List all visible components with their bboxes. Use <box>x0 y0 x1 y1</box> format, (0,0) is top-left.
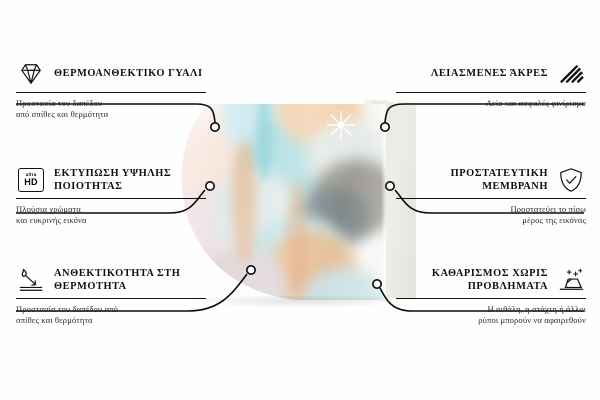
feature-subtitle: Προστατεύει το πίσω μέρος της εικόνας <box>396 204 586 226</box>
divider <box>396 92 586 93</box>
feature-header: ultra HD ΕΚΤΥΠΩΣΗ ΥΨΗΛΗΣ ΠΟΙΟΤΗΤΑΣ <box>16 166 206 194</box>
panel-shadow <box>192 296 392 308</box>
subtitle-line: Λείο και ασφαλές φινίρισμα <box>396 98 586 109</box>
glass-splashback <box>178 104 386 300</box>
feature-title: ΠΡΟΣΤΑΤΕΥΤΙΚΗ ΜΕΜΒΡΑΝΗ <box>396 167 548 194</box>
subtitle-line: και ευκρινής εικόνα <box>16 215 206 226</box>
infographic-canvas: ΘΕΡΜΟΑΝΘΕΚΤΙΚΟ ΓΥΑΛΙ Προστασία του δαπέδ… <box>0 0 600 400</box>
feature-subtitle: Πλούσια χρώματα και ευκρινής εικόνα <box>16 204 206 226</box>
subtitle-line: σπίθες και θερμότητα <box>16 315 206 326</box>
feature-title: ΚΑΘΑΡΙΣΜΟΣ ΧΩΡΙΣ ΠΡΟΒΛΗΜΑΤΑ <box>396 267 548 294</box>
feature-header: ΘΕΡΜΟΑΝΘΕΚΤΙΚΟ ΓΥΑΛΙ <box>16 60 206 88</box>
feature-easy-cleaning[interactable]: ΚΑΘΑΡΙΣΜΟΣ ΧΩΡΙΣ ΠΡΟΒΛΗΜΑΤΑ Η αιθάλη, η … <box>396 266 586 326</box>
subtitle-line: Πλούσια χρώματα <box>16 204 206 215</box>
feature-title: ΕΚΤΥΠΩΣΗ ΥΨΗΛΗΣ ΠΟΙΟΤΗΤΑΣ <box>54 167 206 194</box>
marble-artwork <box>178 104 386 300</box>
divider <box>396 298 586 299</box>
feature-header: ΑΝΘΕΚΤΙΚΟΤΗΤΑ ΣΤΗ ΘΕΡΜΟΤΗΤΑ <box>16 266 206 294</box>
sponge-sparkle-icon <box>556 266 586 294</box>
subtitle-line: ρύποι μπορούν να αφαιρεθούν <box>396 315 586 326</box>
ultra-hd-icon: ultra HD <box>16 166 46 194</box>
subtitle-line: μέρος της εικόνας <box>396 215 586 226</box>
feature-subtitle: Η αιθάλη, η στάχτη ή άλλοι ρύποι μπορούν… <box>396 304 586 326</box>
shield-check-icon <box>556 166 586 194</box>
feature-heat-durability[interactable]: ΑΝΘΕΚΤΙΚΟΤΗΤΑ ΣΤΗ ΘΕΡΜΟΤΗΤΑ Προστασία το… <box>16 266 206 326</box>
feature-header: ΛΕΙΑΣΜΕΝΕΣ ΆΚΡΕΣ <box>396 60 586 88</box>
feature-header: ΚΑΘΑΡΙΣΜΟΣ ΧΩΡΙΣ ΠΡΟΒΛΗΜΑΤΑ <box>396 266 586 294</box>
divider <box>16 298 206 299</box>
feature-title: ΑΝΘΕΚΤΙΚΟΤΗΤΑ ΣΤΗ ΘΕΡΜΟΤΗΤΑ <box>54 267 206 294</box>
subtitle-line: από σπίθες και θερμότητα <box>16 109 206 120</box>
feature-subtitle: Προστασία του δαπέδου από σπίθες και θερ… <box>16 304 206 326</box>
subtitle-line: Προστασία του δαπέδου από <box>16 304 206 315</box>
feature-subtitle: Λείο και ασφαλές φινίρισμα <box>396 98 586 109</box>
feature-smooth-edges[interactable]: ΛΕΙΑΣΜΕΝΕΣ ΆΚΡΕΣ Λείο και ασφαλές φινίρι… <box>396 60 586 109</box>
glass-edge-highlight <box>381 104 386 300</box>
feature-header: ΠΡΟΣΤΑΤΕΥΤΙΚΗ ΜΕΜΒΡΑΝΗ <box>396 166 586 194</box>
feature-high-quality-print[interactable]: ultra HD ΕΚΤΥΠΩΣΗ ΥΨΗΛΗΣ ΠΟΙΟΤΗΤΑΣ Πλούσ… <box>16 166 206 226</box>
feature-heat-resistant-glass[interactable]: ΘΕΡΜΟΑΝΘΕΚΤΙΚΟ ΓΥΑΛΙ Προστασία του δαπέδ… <box>16 60 206 120</box>
feature-protective-membrane[interactable]: ΠΡΟΣΤΑΤΕΥΤΙΚΗ ΜΕΜΒΡΑΝΗ Προστατεύει το πί… <box>396 166 586 226</box>
divider <box>396 198 586 199</box>
subtitle-line: Προστασία του δαπέδου <box>16 98 206 109</box>
feature-subtitle: Προστασία του δαπέδου από σπίθες και θερ… <box>16 98 206 120</box>
divider <box>16 92 206 93</box>
divider <box>16 198 206 199</box>
hd-label: HD <box>24 178 37 187</box>
subtitle-line: Προστατεύει το πίσω <box>396 204 586 215</box>
flame-deflect-icon <box>16 266 46 294</box>
product-image <box>178 96 408 314</box>
subtitle-line: Η αιθάλη, η στάχτη ή άλλοι <box>396 304 586 315</box>
diagonal-stripes-icon <box>556 60 586 88</box>
feature-title: ΘΕΡΜΟΑΝΘΕΚΤΙΚΟ ΓΥΑΛΙ <box>54 67 203 81</box>
diamond-icon <box>16 60 46 88</box>
feature-title: ΛΕΙΑΣΜΕΝΕΣ ΆΚΡΕΣ <box>431 67 548 81</box>
